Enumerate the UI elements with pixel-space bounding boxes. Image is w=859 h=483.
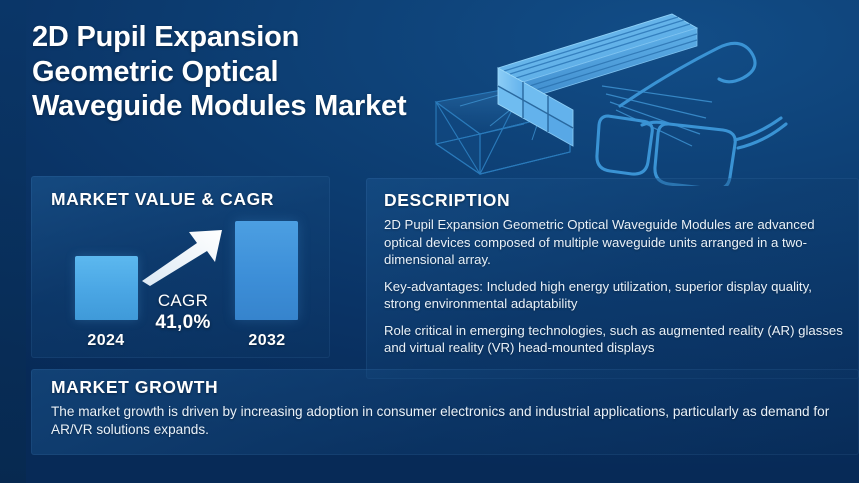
description-panel: DESCRIPTION 2D Pupil Expansion Geometric… (366, 178, 859, 379)
description-paragraph-3: Role critical in emerging technologies, … (384, 322, 846, 357)
market-growth-heading: MARKET GROWTH (51, 377, 218, 398)
market-value-cagr-panel: MARKET VALUE & CAGR 2024 2032 CAGR 41,0% (31, 176, 330, 358)
description-heading: DESCRIPTION (384, 190, 510, 211)
bar-label-2032: 2032 (222, 332, 312, 350)
description-paragraph-1: 2D Pupil Expansion Geometric Optical Wav… (384, 216, 846, 269)
market-growth-body: The market growth is driven by increasin… (51, 403, 841, 440)
description-paragraph-2: Key-advantages: Included high energy uti… (384, 278, 846, 313)
cagr-value: 41,0% (135, 312, 231, 334)
market-value-heading: MARKET VALUE & CAGR (51, 189, 274, 210)
infographic-page: 2D Pupil Expansion Geometric Optical Wav… (0, 0, 859, 483)
bar-chart: 2024 2032 CAGR 41,0% (31, 220, 330, 358)
bar-2032 (235, 221, 298, 320)
bar-2024 (75, 256, 138, 320)
growth-arrow-icon (139, 226, 225, 286)
waveguide-ar-glasses-illustration (420, 0, 859, 186)
description-body: 2D Pupil Expansion Geometric Optical Wav… (384, 216, 846, 357)
page-title: 2D Pupil Expansion Geometric Optical Wav… (32, 20, 432, 124)
cagr-callout: CAGR 41,0% (135, 291, 231, 334)
market-growth-panel: MARKET GROWTH The market growth is drive… (31, 369, 859, 455)
left-accent-rail (0, 0, 26, 483)
bar-label-2024: 2024 (61, 332, 151, 350)
cagr-label: CAGR (135, 291, 231, 311)
